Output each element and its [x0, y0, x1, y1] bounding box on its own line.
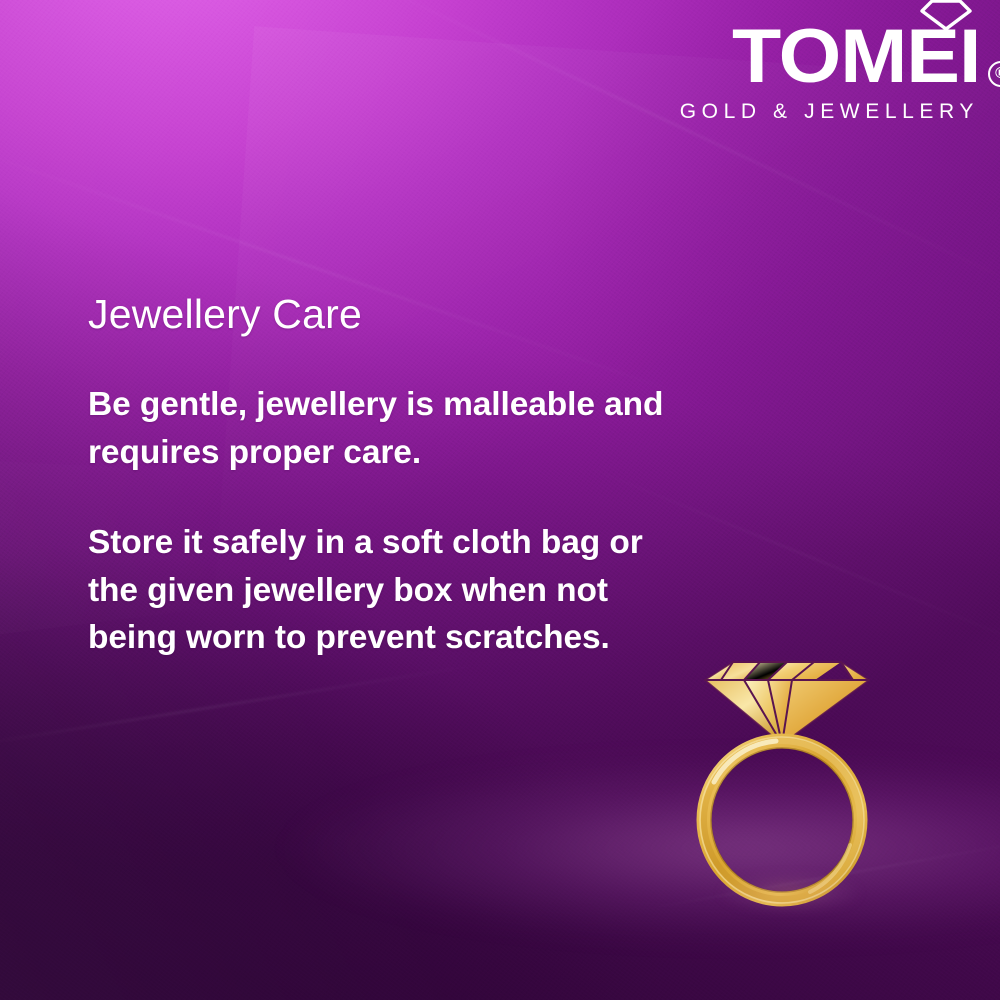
- diamond-ring-illustration: [690, 640, 890, 910]
- jewellery-care-poster: TOMEI ® GOLD & JEWELLERY Jewellery Care …: [0, 0, 1000, 1000]
- brand-wordmark-row: TOMEI ®: [680, 24, 980, 89]
- diamond-outline-icon: [919, 0, 973, 32]
- gem-icon: [705, 662, 869, 744]
- brand-tagline: GOLD & JEWELLERY: [680, 101, 979, 122]
- page-title: Jewellery Care: [88, 292, 688, 337]
- care-paragraph-1: Be gentle, jewellery is malleable and re…: [88, 381, 688, 476]
- copy-block: Jewellery Care Be gentle, jewellery is m…: [88, 292, 688, 662]
- brand-wordmark: TOMEI: [732, 24, 980, 89]
- care-paragraph-2: Store it safely in a soft cloth bag or t…: [88, 519, 688, 662]
- brand-logo: TOMEI ® GOLD & JEWELLERY: [680, 24, 980, 122]
- ring-floor-reflection: [696, 870, 884, 916]
